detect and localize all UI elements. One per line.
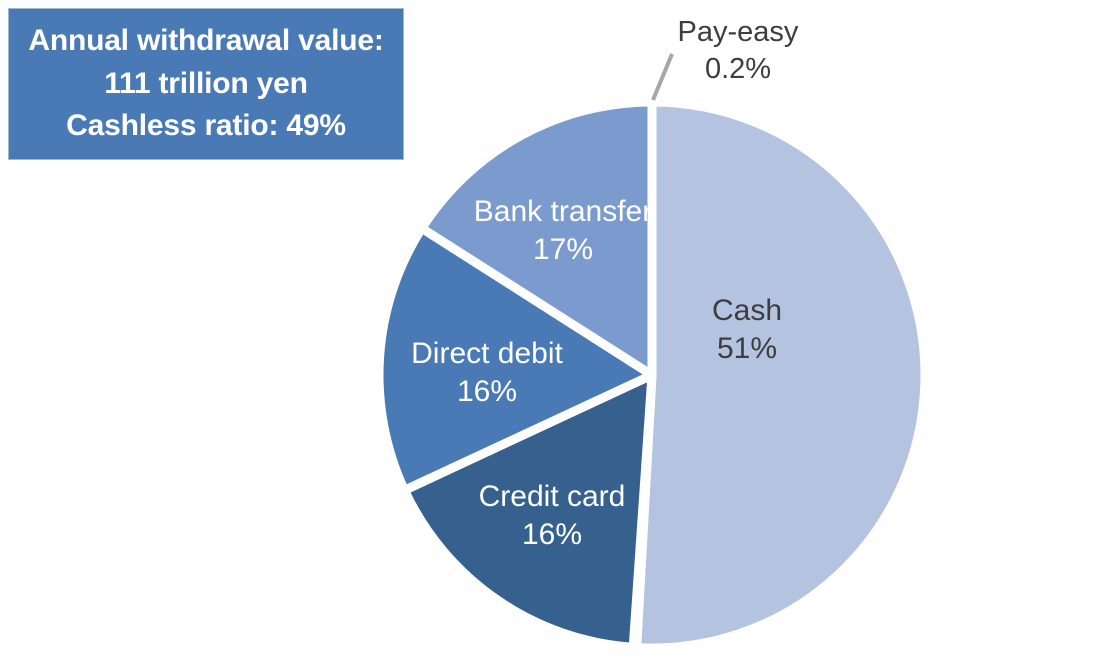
chart-canvas: Annual withdrawal value: 111 trillion ye… (0, 0, 1120, 668)
pie-slice-cash[interactable] (637, 102, 925, 648)
pay-easy-leader-line (653, 54, 672, 100)
pie-chart (0, 0, 1120, 668)
